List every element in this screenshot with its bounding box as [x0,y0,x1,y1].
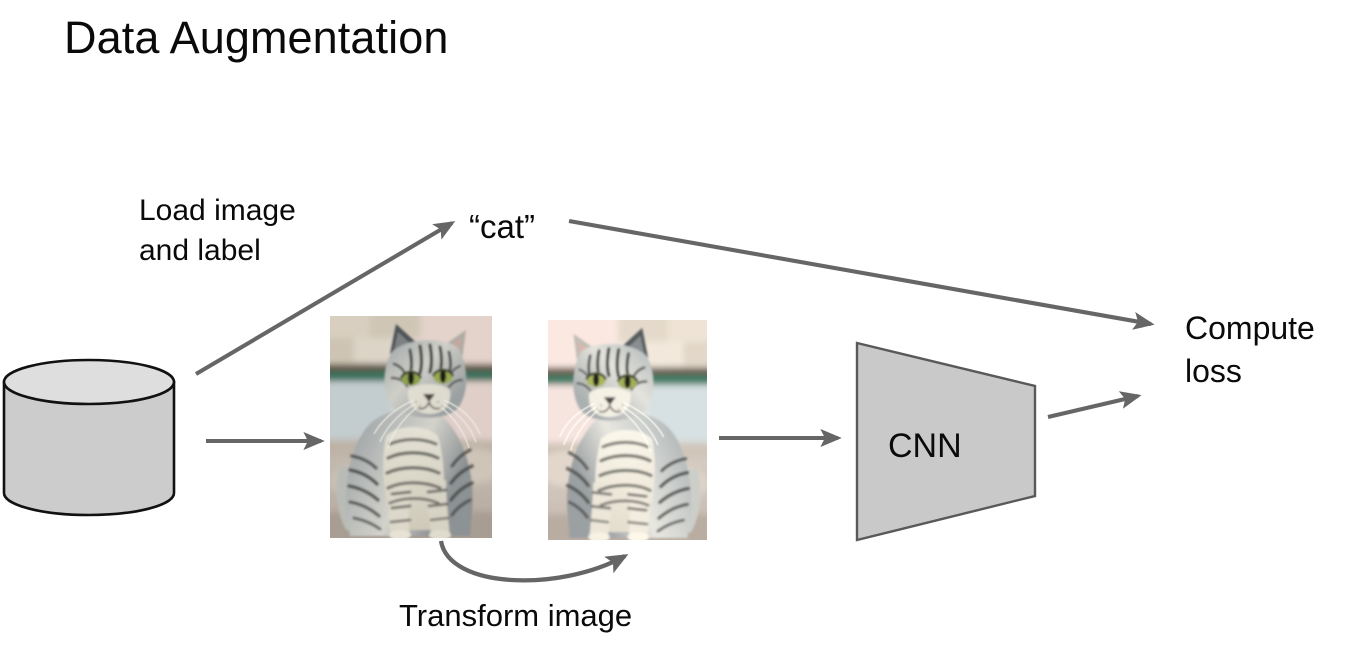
slide-canvas: Data Augmentation [0,0,1362,660]
cat-photo-original-inner [330,316,492,538]
load-image-label: Load image and label [139,191,296,271]
page-title: Data Augmentation [64,12,448,64]
transform-image-label: Transform image [399,596,632,636]
cylinder-body [4,382,174,515]
cat-photo-original [330,316,492,538]
arrow-label-to-loss [569,221,1151,324]
compute-loss-label: Compute loss [1185,307,1315,392]
cat-photo-transformed [548,320,707,540]
cylinder-top [4,360,174,404]
cnn-label: CNN [888,425,962,469]
class-label: “cat” [469,206,535,248]
cat-photo-transformed-inner [548,320,707,540]
arrow-transform [441,541,625,580]
dataset-cylinder [4,360,174,515]
arrow-cnn-to-loss [1048,396,1138,417]
